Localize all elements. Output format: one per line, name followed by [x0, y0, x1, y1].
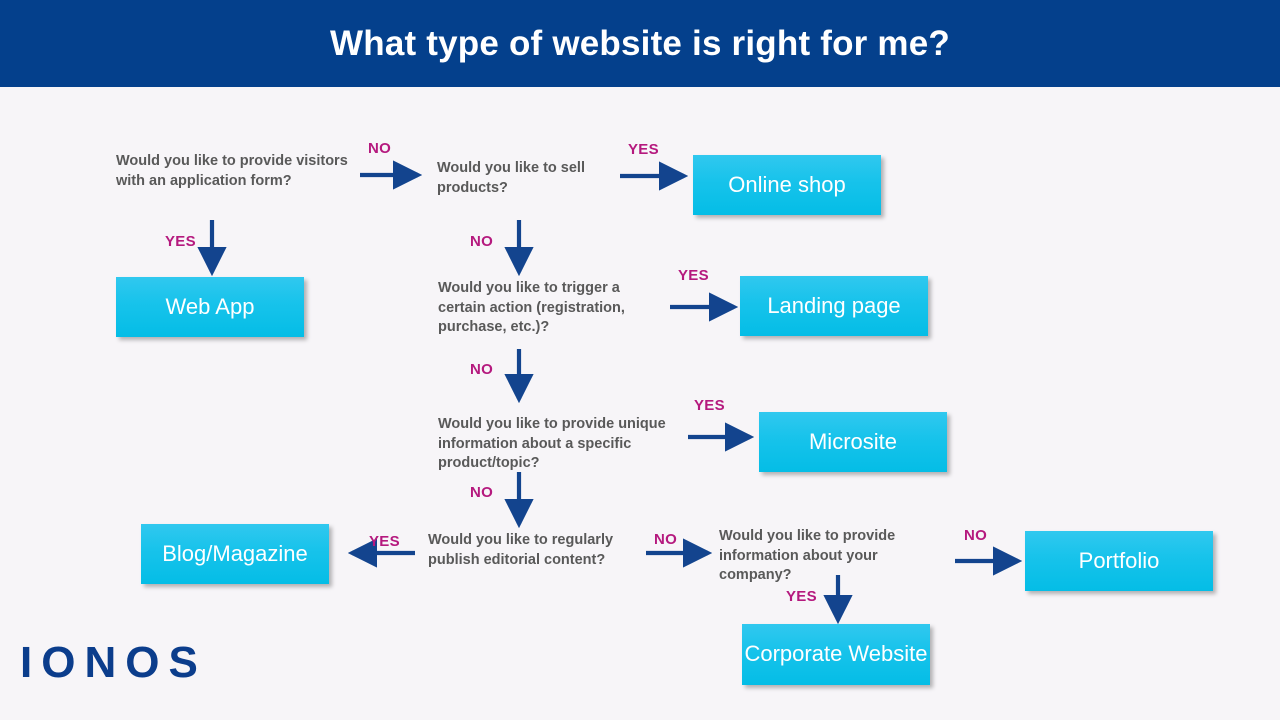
ionos-logo: IONOS — [20, 641, 207, 685]
result-box-portfolio[interactable]: Portfolio — [1025, 531, 1213, 591]
result-box-web-app[interactable]: Web App — [116, 277, 304, 337]
edge-label-no-q4-q5: NO — [470, 484, 493, 501]
question-editorial-content: Would you like to regularly publish edit… — [428, 531, 650, 570]
question-unique-information: Would you like to provide unique informa… — [438, 415, 670, 474]
result-box-landing-page[interactable]: Landing page — [740, 276, 928, 336]
edge-label-no-q2-q3: NO — [470, 233, 493, 250]
edge-label-yes-q6-corporatewebsite: YES — [786, 588, 817, 605]
edge-label-no-q3-q4: NO — [470, 361, 493, 378]
flowchart-canvas: Would you like to provide visitors with … — [0, 87, 1280, 720]
edge-label-yes-q3-landingpage: YES — [678, 267, 709, 284]
edge-label-no-q1-q2: NO — [368, 140, 391, 157]
result-box-corporate-website[interactable]: Corporate Website — [742, 624, 930, 685]
edge-label-yes-q5-blogmagazine: YES — [369, 533, 400, 550]
edge-label-no-q6-portfolio: NO — [964, 527, 987, 544]
question-trigger-action: Would you like to trigger a certain acti… — [438, 279, 670, 338]
page-title: What type of website is right for me? — [0, 0, 1280, 87]
question-application-form: Would you like to provide visitors with … — [116, 152, 348, 191]
edge-label-no-q5-q6: NO — [654, 531, 677, 548]
edge-label-yes-q4-microsite: YES — [694, 397, 725, 414]
result-box-online-shop[interactable]: Online shop — [693, 155, 881, 215]
question-sell-products: Would you like to sell products? — [437, 159, 617, 198]
edge-label-yes-q2-onlineshop: YES — [628, 141, 659, 158]
result-box-blog-magazine[interactable]: Blog/Magazine — [141, 524, 329, 584]
result-box-microsite[interactable]: Microsite — [759, 412, 947, 472]
edge-label-yes-q1-webapp: YES — [165, 233, 196, 250]
question-company-information: Would you like to provide information ab… — [719, 527, 933, 586]
